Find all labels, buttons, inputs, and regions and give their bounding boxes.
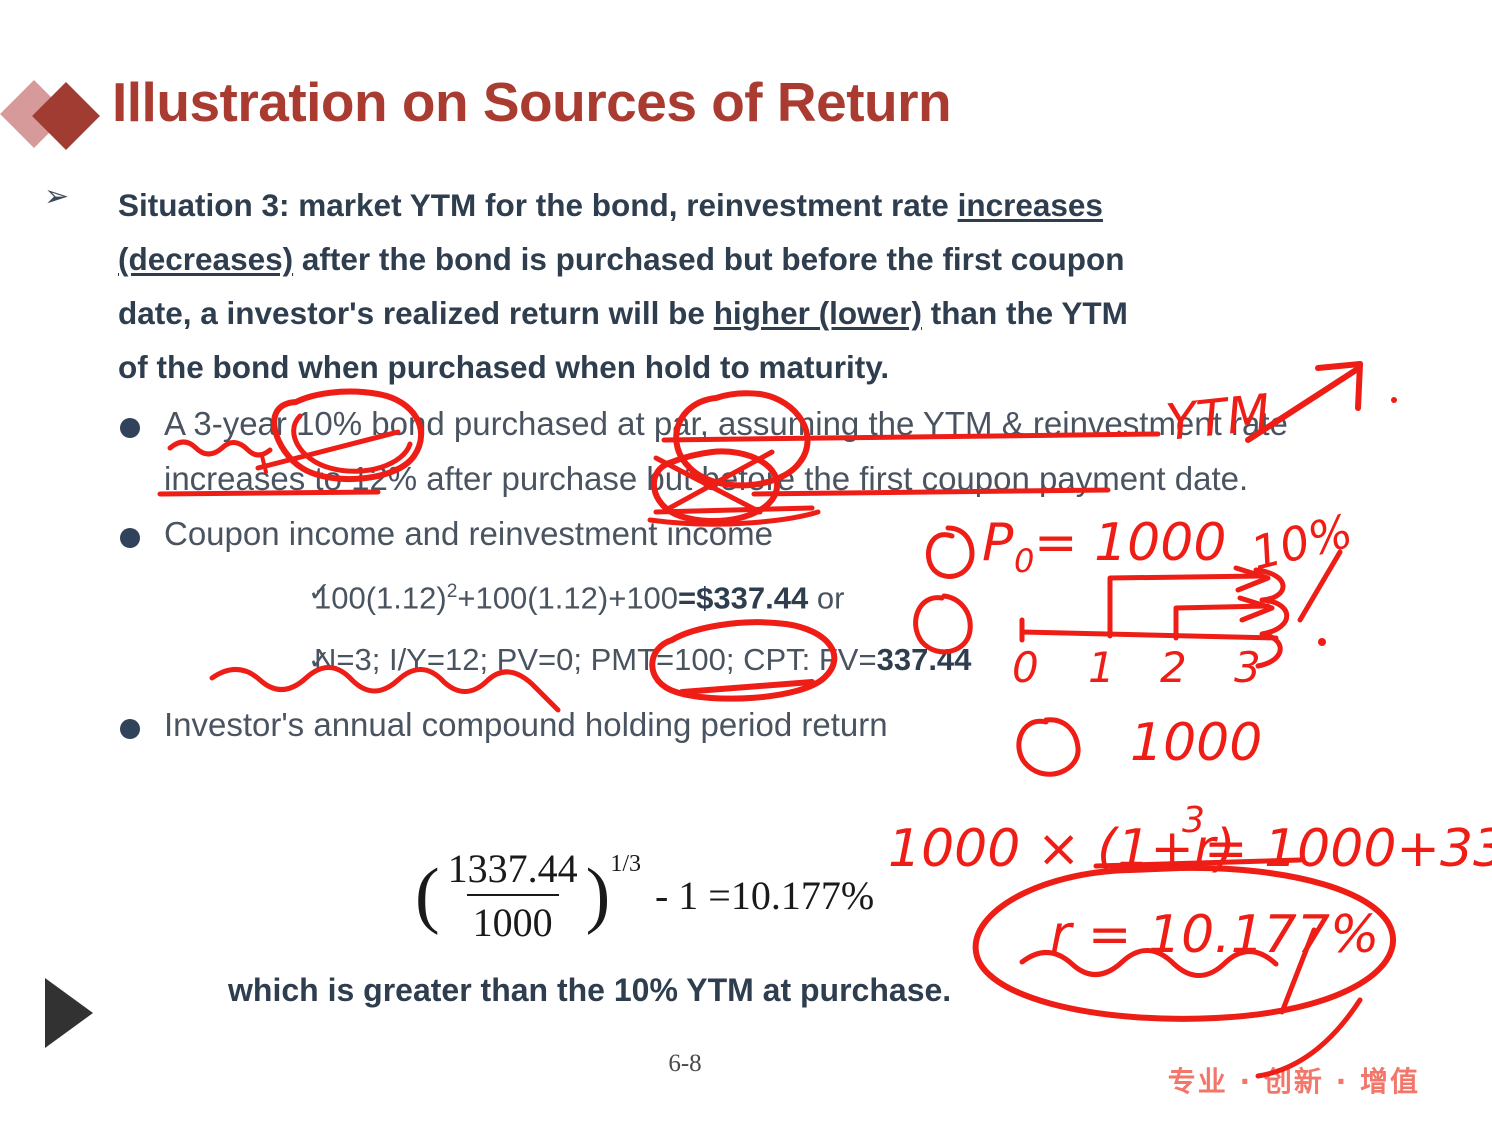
situation-decreases: (decreases) <box>118 241 293 277</box>
ink-ellipse-result <box>976 868 1393 1019</box>
arrow-bullet-icon: ➢ <box>44 182 69 212</box>
slide-canvas: Illustration on Sources of Return ➢ Situ… <box>0 0 1492 1136</box>
play-triangle-icon[interactable] <box>45 978 93 1048</box>
formula-fraction: 1337.44 1000 <box>442 845 584 946</box>
page-title: Illustration on Sources of Return <box>112 70 951 134</box>
formula-open-paren: ( <box>415 870 440 922</box>
formula-numerator: 1337.44 <box>442 845 584 894</box>
situation-higher-lower: higher (lower) <box>714 295 922 331</box>
check-1-post: or <box>808 580 844 615</box>
dot-bullet-icon <box>120 528 140 548</box>
formula-tail: - 1 =10.177% <box>655 872 874 919</box>
formula-close-paren: ) <box>586 870 611 922</box>
bullet-2-text: Coupon income and reinvestment income <box>118 506 1324 561</box>
situation-line1-a: Situation 3: market YTM for the bond, re… <box>118 187 958 223</box>
situation-increases: increases <box>958 187 1103 223</box>
check-row-formula: ✓ 100(1.12)2+100(1.12)+100=$337.44 or <box>118 561 1400 629</box>
ink-label-result: r = 10.177% <box>1050 905 1379 965</box>
situation-line2-b: after the bond is purchased but before t… <box>293 241 1124 277</box>
ink-eq-underline <box>1096 860 1300 866</box>
ink-label-equation-rhs: = 1000+337.44 <box>1204 819 1492 879</box>
ink-label-equation-exp: 3 <box>1182 800 1205 841</box>
check-icon: ✓ <box>308 629 331 691</box>
ink-squiggle-result <box>1022 950 1276 975</box>
check-icon: ✓ <box>308 561 331 623</box>
bullet-3-text: Investor's annual compound holding perio… <box>118 697 1324 752</box>
slide-header: Illustration on Sources of Return <box>0 78 1200 162</box>
situation-text: Situation 3: market YTM for the bond, re… <box>118 178 1333 394</box>
dot-bullet-icon <box>120 418 140 438</box>
holding-period-return-formula: ( 1337.44 1000 ) 1/3 - 1 =10.177% <box>415 845 874 946</box>
situation-paragraph: ➢ Situation 3: market YTM for the bond, … <box>0 178 1400 394</box>
check-1-result: =$337.44 <box>678 580 808 615</box>
situation-line3-b: than the YTM <box>922 295 1128 331</box>
formula-exponent: 1/3 <box>610 851 641 878</box>
formula-denominator: 1000 <box>467 894 559 946</box>
bullet-1-text: A 3-year 10% bond purchased at par, assu… <box>118 396 1324 506</box>
ink-pct-slash <box>1282 930 1314 1012</box>
check-1-sup: 2 <box>447 581 458 602</box>
situation-line3-a: date, a investor's realized return will … <box>118 295 714 331</box>
bullet-item: Coupon income and reinvestment income ✓ … <box>0 506 1400 691</box>
brand-logo: 专业 · 创新 · 增值 <box>1168 1060 1420 1100</box>
bullet-item: Investor's annual compound holding perio… <box>0 697 1400 752</box>
closing-statement: which is greater than the 10% YTM at pur… <box>228 972 951 1009</box>
check-1-mid: +100(1.12)+100 <box>457 580 678 615</box>
check-2-bold: 337.44 <box>877 642 972 677</box>
page-number: 6-8 <box>0 1050 1370 1078</box>
check-2-plain: N=3; I/Y=12; PV=0; PMT=100; CPT: FV= <box>314 642 877 677</box>
bullet-item: A 3-year 10% bond purchased at par, assu… <box>0 396 1400 506</box>
ink-label-equation: 1000 × (1+r) <box>888 819 1236 879</box>
check-1-pre: 100(1.12) <box>314 580 447 615</box>
check-row-calculator: ✓ N=3; I/Y=12; PV=0; PMT=100; CPT: FV=33… <box>118 629 1400 691</box>
situation-line4: of the bond when purchased when hold to … <box>118 349 889 385</box>
slide-body: ➢ Situation 3: market YTM for the bond, … <box>0 178 1400 752</box>
